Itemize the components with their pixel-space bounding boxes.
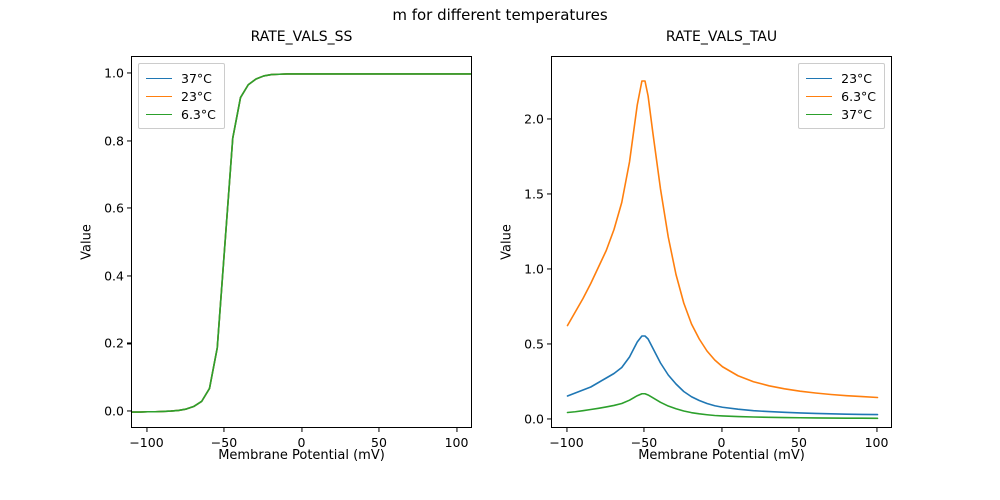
legend-label: 6.3°C — [181, 107, 216, 122]
y-tick-mark — [127, 275, 131, 276]
x-axis-label: Membrane Potential (mV) — [131, 448, 472, 463]
legend-swatch-icon — [146, 78, 172, 79]
y-tick-mark — [547, 343, 551, 344]
axes-title: RATE_VALS_SS — [131, 29, 472, 45]
line-series — [568, 394, 878, 419]
x-tick-mark — [378, 428, 379, 432]
legend-swatch-icon — [806, 78, 832, 79]
legend: 23°C6.3°C37°C — [798, 63, 885, 129]
y-tick-mark — [547, 193, 551, 194]
figure: m for different temperatures RATE_VALS_S… — [0, 0, 1000, 500]
legend-label: 23°C — [841, 71, 872, 86]
y-tick-mark — [127, 208, 131, 209]
legend-label: 37°C — [841, 107, 872, 122]
axes-rate-vals-ss: RATE_VALS_SS Value Membrane Potential (m… — [131, 56, 472, 428]
legend-item[interactable]: 6.3°C — [146, 105, 216, 123]
y-tick-mark — [547, 268, 551, 269]
y-tick-mark — [547, 418, 551, 419]
x-tick-mark — [301, 428, 302, 432]
y-tick-mark — [127, 72, 131, 73]
legend-item[interactable]: 37°C — [146, 69, 216, 87]
legend-item[interactable]: 23°C — [146, 87, 216, 105]
x-tick-mark — [876, 428, 877, 432]
legend-item[interactable]: 6.3°C — [806, 87, 876, 105]
x-tick-mark — [643, 428, 644, 432]
legend-swatch-icon — [146, 114, 172, 115]
legend-label: 37°C — [181, 71, 212, 86]
y-tick-mark — [127, 343, 131, 344]
legend-item[interactable]: 37°C — [806, 105, 876, 123]
axes-title: RATE_VALS_TAU — [551, 29, 892, 45]
x-tick-mark — [456, 428, 457, 432]
legend-swatch-icon — [806, 96, 832, 97]
legend-label: 6.3°C — [841, 89, 876, 104]
y-tick-mark — [127, 411, 131, 412]
x-tick-mark — [721, 428, 722, 432]
legend-item[interactable]: 23°C — [806, 69, 876, 87]
legend-swatch-icon — [146, 96, 172, 97]
y-tick-mark — [127, 140, 131, 141]
x-axis-label: Membrane Potential (mV) — [551, 448, 892, 463]
x-tick-mark — [566, 428, 567, 432]
x-tick-mark — [223, 428, 224, 432]
line-series — [568, 336, 878, 415]
x-tick-mark — [798, 428, 799, 432]
y-axis-label: Value — [499, 224, 514, 260]
legend: 37°C23°C6.3°C — [138, 63, 225, 129]
figure-suptitle: m for different temperatures — [0, 6, 1000, 24]
legend-label: 23°C — [181, 89, 212, 104]
y-tick-mark — [547, 118, 551, 119]
x-tick-mark — [146, 428, 147, 432]
y-axis-label: Value — [79, 224, 94, 260]
legend-swatch-icon — [806, 114, 832, 115]
axes-rate-vals-tau: RATE_VALS_TAU Value Membrane Potential (… — [551, 56, 892, 428]
